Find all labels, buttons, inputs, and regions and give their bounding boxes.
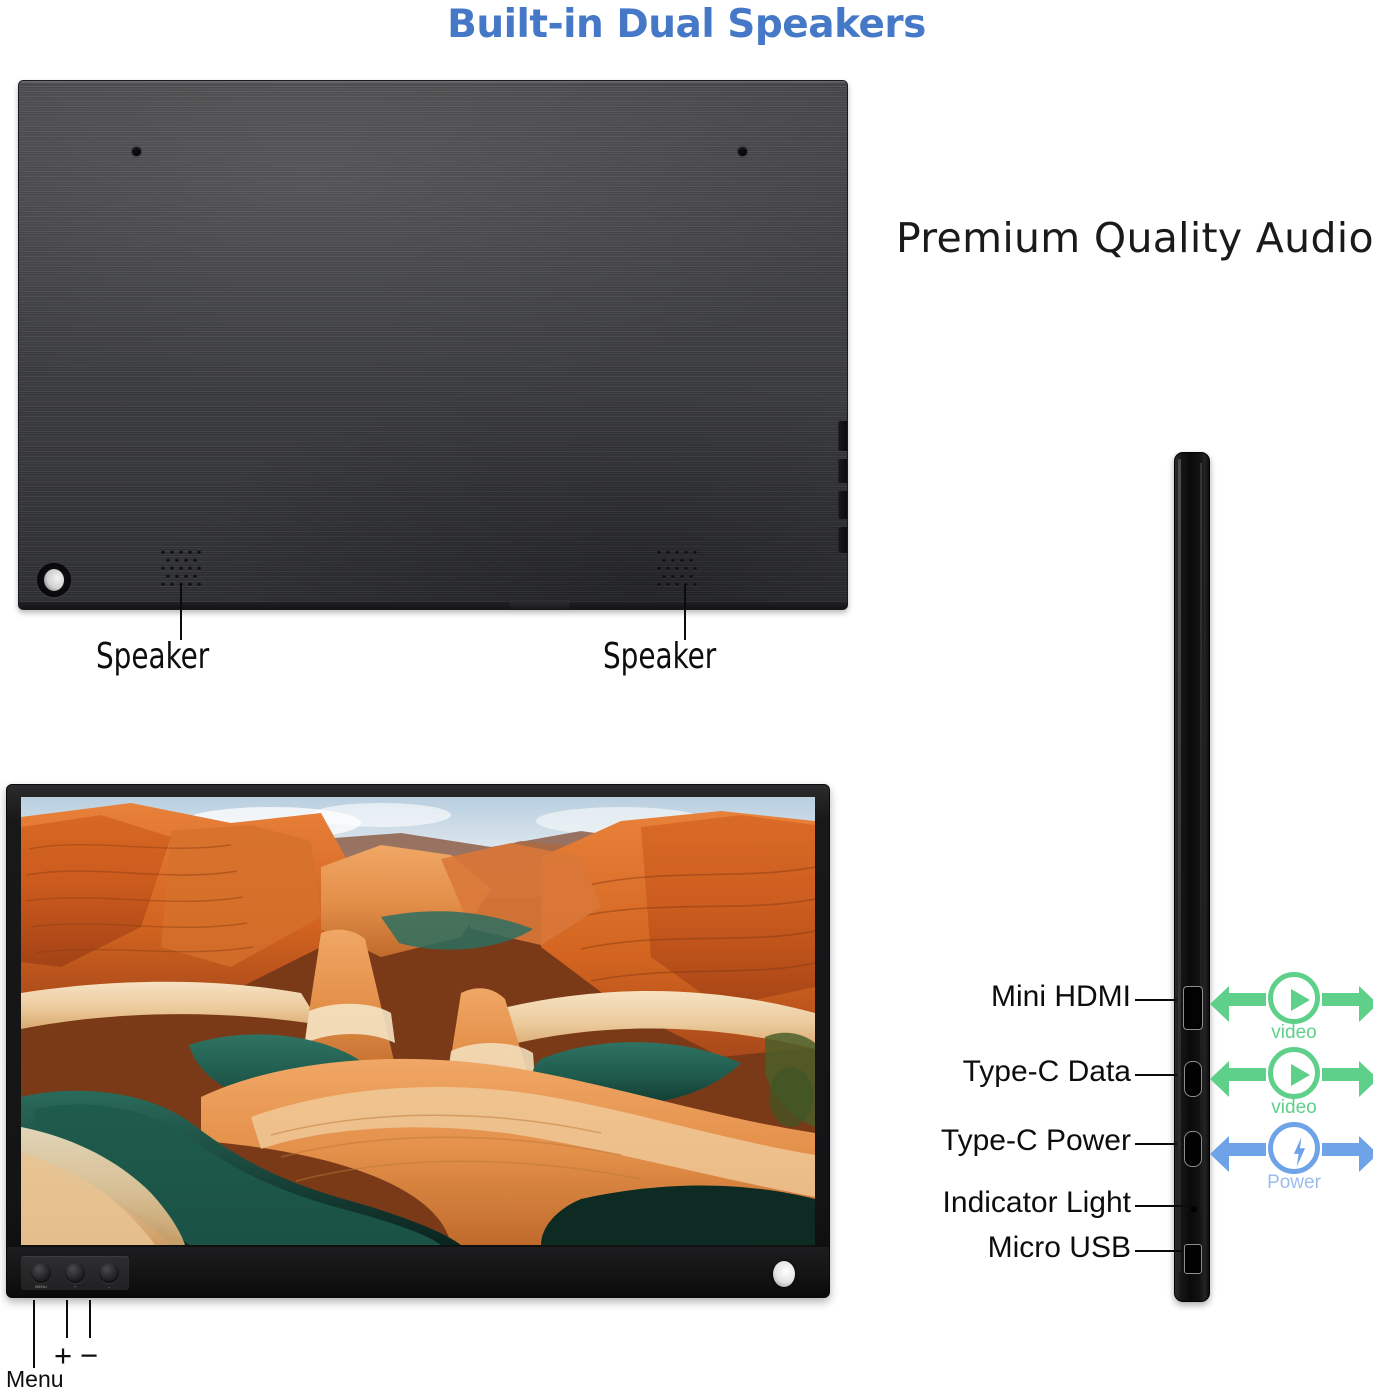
page-title: Built-in Dual Speakers xyxy=(0,2,1373,47)
tagline-premium-quality-audio: Premium Quality Audio xyxy=(896,214,1373,262)
speaker-grille-icon xyxy=(657,541,717,585)
speaker-label-right: Speaker xyxy=(603,636,716,677)
speaker-grille-icon xyxy=(161,541,221,585)
monitor-back-panel xyxy=(18,80,848,610)
back-panel-bottom-edge xyxy=(19,602,847,609)
play-circle-icon xyxy=(1268,1047,1320,1099)
play-triangle-icon xyxy=(1291,1064,1310,1086)
arrow-shaft-right xyxy=(1322,1068,1362,1081)
screw-hole-icon xyxy=(132,147,141,156)
back-panel-sheen xyxy=(19,81,847,609)
side-button-notch[interactable] xyxy=(838,421,848,451)
menu-button-glyph: MENU xyxy=(31,1284,51,1289)
plus-button-glyph: + xyxy=(65,1284,85,1289)
side-button-notch[interactable] xyxy=(838,491,848,519)
osd-label-minus: − xyxy=(80,1338,98,1374)
lightning-circle-icon xyxy=(1268,1122,1320,1174)
badge-power: Power xyxy=(1218,1118,1370,1190)
arrow-shaft-left xyxy=(1226,1143,1266,1156)
port-leader-line xyxy=(1135,1143,1177,1145)
arrow-shaft-left xyxy=(1226,993,1266,1006)
badge-video-typec: video xyxy=(1218,1043,1370,1115)
menu-leader-line xyxy=(33,1300,35,1368)
badge-text-power: Power xyxy=(1218,1172,1370,1194)
port-label-indicator-light: Indicator Light xyxy=(943,1186,1131,1220)
back-panel-top-edge xyxy=(19,81,847,85)
arrow-left-icon xyxy=(1210,1136,1229,1172)
arrow-shaft-right xyxy=(1322,993,1362,1006)
side-button-notch[interactable] xyxy=(838,459,848,483)
play-circle-icon xyxy=(1268,972,1320,1024)
canyon-lake-wallpaper xyxy=(21,797,815,1245)
monitor-front-view: MENU + – xyxy=(6,784,830,1298)
back-panel-foot-notch xyxy=(510,600,570,609)
port-label-mini-hdmi: Mini HDMI xyxy=(991,980,1131,1014)
arrow-right-icon xyxy=(1359,986,1373,1022)
lightning-bolt-icon xyxy=(1293,1137,1306,1167)
mini-hdmi-port-icon[interactable] xyxy=(1183,986,1203,1030)
arrow-right-icon xyxy=(1359,1061,1373,1097)
arrow-shaft-left xyxy=(1226,1068,1266,1081)
badge-text-video: video xyxy=(1218,1022,1370,1044)
menu-button-icon[interactable]: MENU xyxy=(31,1263,51,1283)
front-camera-icon xyxy=(773,1261,795,1287)
plus-leader-line xyxy=(66,1300,68,1338)
arrow-right-icon xyxy=(1359,1136,1373,1172)
speaker-leader-line-right xyxy=(684,584,686,640)
usb-c-data-port-icon[interactable] xyxy=(1184,1061,1202,1097)
micro-usb-port-icon[interactable] xyxy=(1184,1244,1202,1274)
osd-label-menu: Menu xyxy=(6,1366,64,1393)
side-profile-highlight xyxy=(1178,459,1181,1273)
speaker-leader-line-left xyxy=(180,584,182,640)
speaker-label-left: Speaker xyxy=(96,636,209,677)
port-label-micro-usb: Micro USB xyxy=(988,1231,1131,1265)
screw-hole-icon xyxy=(738,147,747,156)
port-leader-line xyxy=(1135,1074,1177,1076)
arrow-left-icon xyxy=(1210,1061,1229,1097)
play-triangle-icon xyxy=(1291,989,1310,1011)
usb-c-power-port-icon[interactable] xyxy=(1184,1131,1202,1167)
port-label-type-c-power: Type-C Power xyxy=(941,1124,1131,1158)
side-button-notch[interactable] xyxy=(838,527,848,553)
port-leader-line xyxy=(1135,1250,1183,1252)
monitor-side-profile xyxy=(1174,452,1210,1302)
badge-text-video: video xyxy=(1218,1097,1370,1119)
badge-video-hdmi: video xyxy=(1218,968,1370,1040)
arrow-left-icon xyxy=(1210,986,1229,1022)
monitor-bottom-bezel: MENU + – xyxy=(7,1247,829,1297)
arrow-shaft-right xyxy=(1322,1143,1362,1156)
minus-button-glyph: – xyxy=(99,1284,119,1289)
plus-button-icon[interactable]: + xyxy=(65,1263,85,1283)
port-leader-line xyxy=(1135,1205,1193,1207)
port-leader-line xyxy=(1135,999,1177,1001)
minus-leader-line xyxy=(89,1300,91,1338)
hinge-hole-icon xyxy=(37,563,71,597)
minus-button-icon[interactable]: – xyxy=(99,1263,119,1283)
monitor-screen xyxy=(21,797,815,1245)
osd-button-panel: MENU + – xyxy=(21,1256,129,1290)
port-label-type-c-data: Type-C Data xyxy=(963,1055,1131,1089)
